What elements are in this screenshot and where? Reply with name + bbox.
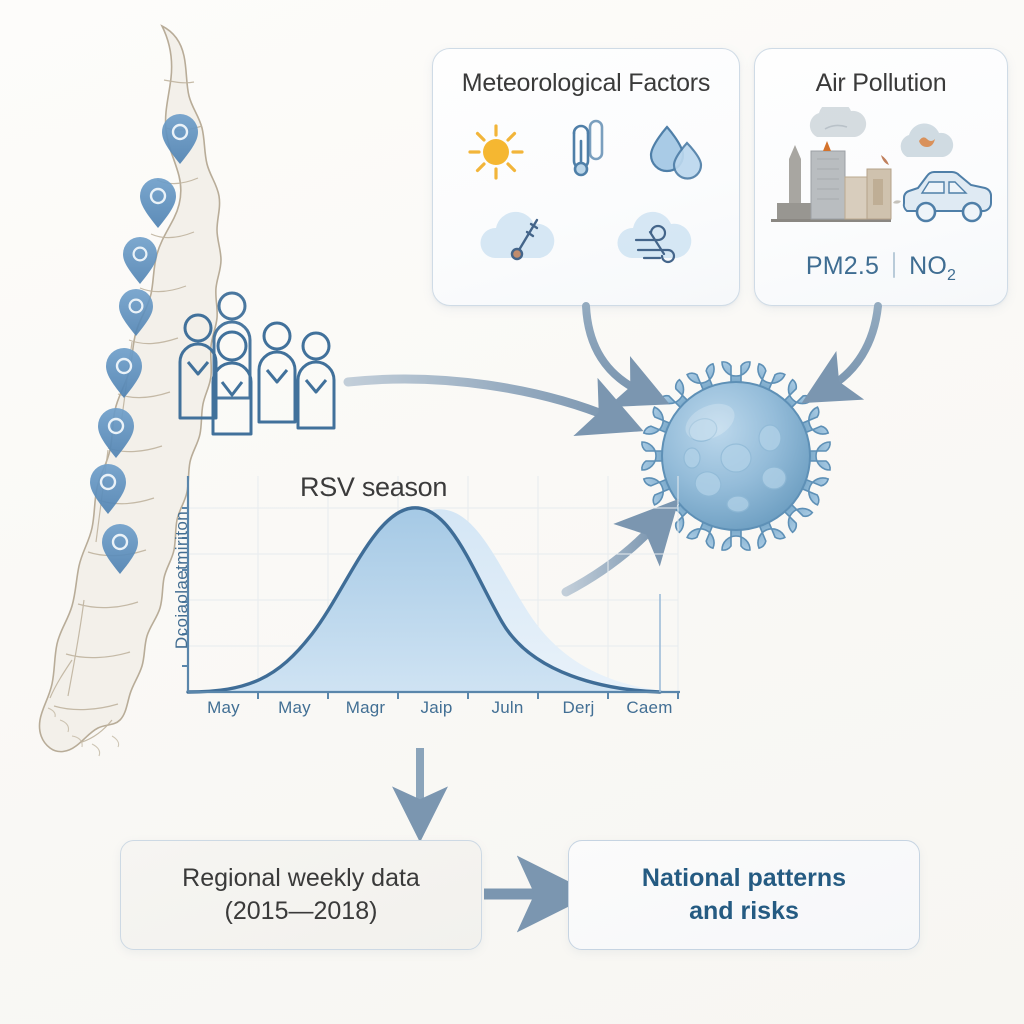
x-tick-label: Jaip (401, 698, 472, 718)
chart-title: RSV season (300, 472, 447, 503)
arrow-pollution-to-virus (828, 306, 878, 388)
x-tick-label: Caem (614, 698, 685, 718)
regional-data-line1: Regional weekly data (182, 862, 420, 895)
chart-y-axis-label: Dcoiaolaetmiriton (172, 490, 192, 670)
chart-plot (140, 466, 685, 716)
arrow-population-to-virus (348, 379, 612, 418)
x-tick-label: May (259, 698, 330, 718)
x-tick-label: Magr (330, 698, 401, 718)
national-patterns-line1: National patterns (642, 862, 846, 895)
rsv-chart: RSV season Dcoiaolaetmiriton (140, 466, 685, 746)
arrow-meteo-to-virus (586, 306, 642, 392)
infographic-canvas: Meteorological Factors (0, 0, 1024, 1024)
x-tick-label: Juln (472, 698, 543, 718)
national-patterns-box[interactable]: National patterns and risks (568, 840, 920, 950)
national-patterns-line2: and risks (642, 895, 846, 928)
regional-data-box[interactable]: Regional weekly data (2015—2018) (120, 840, 482, 950)
regional-data-line2: (2015—2018) (182, 895, 420, 928)
x-tick-label: Derj (543, 698, 614, 718)
x-tick-label: May (188, 698, 259, 718)
chart-x-tick-labels: May May Magr Jaip Juln Derj Caem (188, 698, 685, 718)
